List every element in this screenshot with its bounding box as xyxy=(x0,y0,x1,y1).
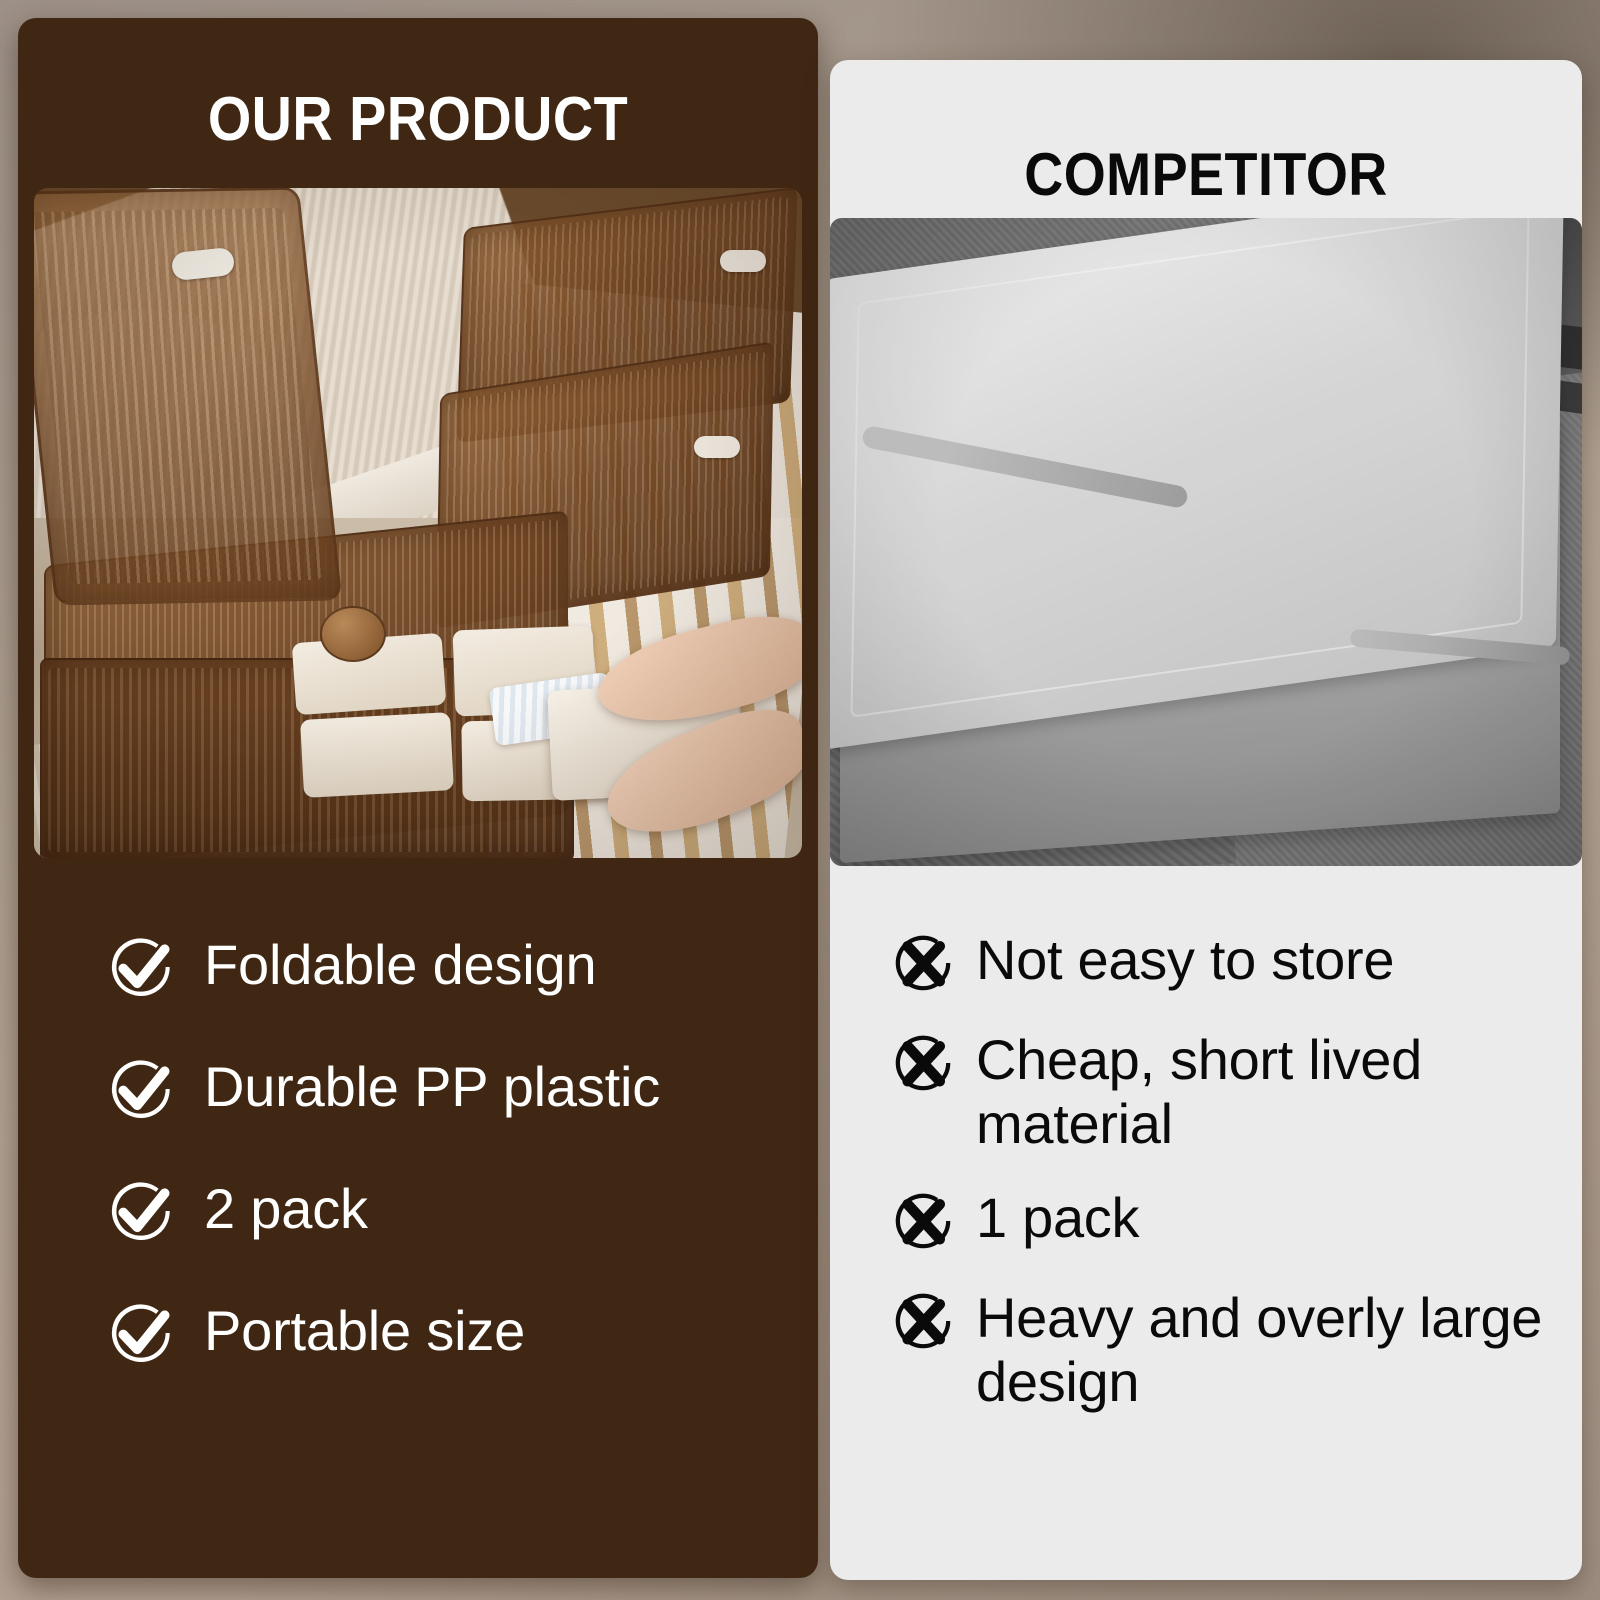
competitor-feature-list: Not easy to store Cheap, short lived mat… xyxy=(888,928,1578,1444)
x-circle-icon xyxy=(888,1286,958,1356)
drawback-label: Not easy to store xyxy=(976,928,1394,992)
comparison-infographic: OUR PRODUCT xyxy=(0,0,1600,1600)
box-handle-middle xyxy=(694,436,740,458)
drawback-row: 1 pack xyxy=(888,1186,1578,1256)
our-product-title: OUR PRODUCT xyxy=(58,84,778,155)
lid-knob xyxy=(320,606,386,662)
drawback-label: Heavy and overly large design xyxy=(976,1286,1566,1414)
check-circle-icon xyxy=(104,1174,178,1248)
our-product-panel: OUR PRODUCT xyxy=(18,18,818,1578)
feature-row: Portable size xyxy=(104,1294,804,1370)
our-product-photo xyxy=(34,188,802,858)
feature-label: Durable PP plastic xyxy=(204,1050,660,1124)
drawback-row: Heavy and overly large design xyxy=(888,1286,1578,1414)
check-circle-icon xyxy=(104,1296,178,1370)
drawback-label: 1 pack xyxy=(976,1186,1139,1250)
feature-label: Portable size xyxy=(204,1294,525,1368)
check-circle-icon xyxy=(104,930,178,1004)
drawback-row: Not easy to store xyxy=(888,928,1578,998)
feature-row: 2 pack xyxy=(104,1172,804,1248)
feature-row: Durable PP plastic xyxy=(104,1050,804,1126)
competitor-panel: COMPETITOR Not eas xyxy=(830,60,1582,1580)
box-handle-back xyxy=(720,250,766,272)
check-circle-icon xyxy=(104,1052,178,1126)
x-circle-icon xyxy=(888,1028,958,1098)
folded-item xyxy=(300,712,454,798)
drawback-row: Cheap, short lived material xyxy=(888,1028,1578,1156)
competitor-photo xyxy=(830,218,1582,866)
feature-row: Foldable design xyxy=(104,928,804,1004)
feature-label: Foldable design xyxy=(204,928,596,1002)
photo-vignette xyxy=(830,218,1582,866)
x-circle-icon xyxy=(888,928,958,998)
our-product-feature-list: Foldable design Durable PP plastic xyxy=(104,928,804,1370)
competitor-title: COMPETITOR xyxy=(868,140,1545,209)
drawback-label: Cheap, short lived material xyxy=(976,1028,1566,1156)
feature-label: 2 pack xyxy=(204,1172,368,1246)
x-circle-icon xyxy=(888,1186,958,1256)
